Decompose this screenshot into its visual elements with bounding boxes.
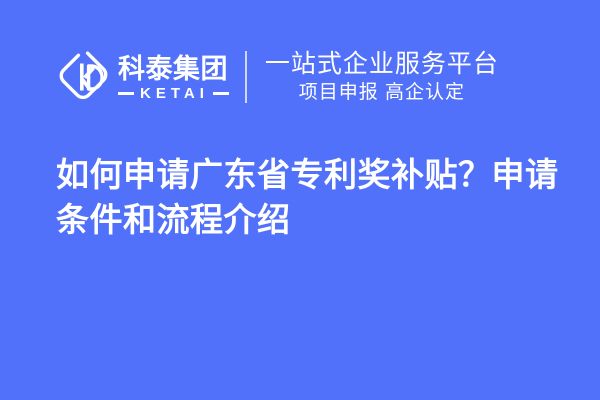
headline-line-1: 如何申请广东省专利奖补贴？申请 [56, 152, 556, 197]
brand-logo-lockup[interactable]: 科泰集团 KETAI [58, 42, 229, 112]
tagline-main: 一站式企业服务平台 [265, 49, 499, 80]
headline-line-2: 条件和流程介绍 [56, 197, 556, 242]
brand-name-en-row: KETAI [118, 87, 229, 101]
brand-rule-left-icon [118, 92, 134, 95]
header-divider [245, 51, 247, 103]
ketai-diamond-kd-monogram-icon [58, 49, 110, 105]
tagline-sub: 项目申报 高企认定 [265, 80, 499, 106]
brand-rule-right-icon [213, 92, 229, 95]
banner-header: 科泰集团 KETAI 一站式企业服务平台 项目申报 高企认定 [58, 42, 550, 112]
page-title: 如何申请广东省专利奖补贴？申请 条件和流程介绍 [56, 152, 556, 242]
tagline-block: 一站式企业服务平台 项目申报 高企认定 [265, 45, 499, 109]
brand-wordmark: 科泰集团 KETAI [118, 54, 229, 101]
brand-name-en: KETAI [140, 86, 209, 101]
brand-name-cn: 科泰集团 [118, 54, 229, 84]
promo-banner: 科泰集团 KETAI 一站式企业服务平台 项目申报 高企认定 如何申请广东省专利… [0, 0, 600, 400]
